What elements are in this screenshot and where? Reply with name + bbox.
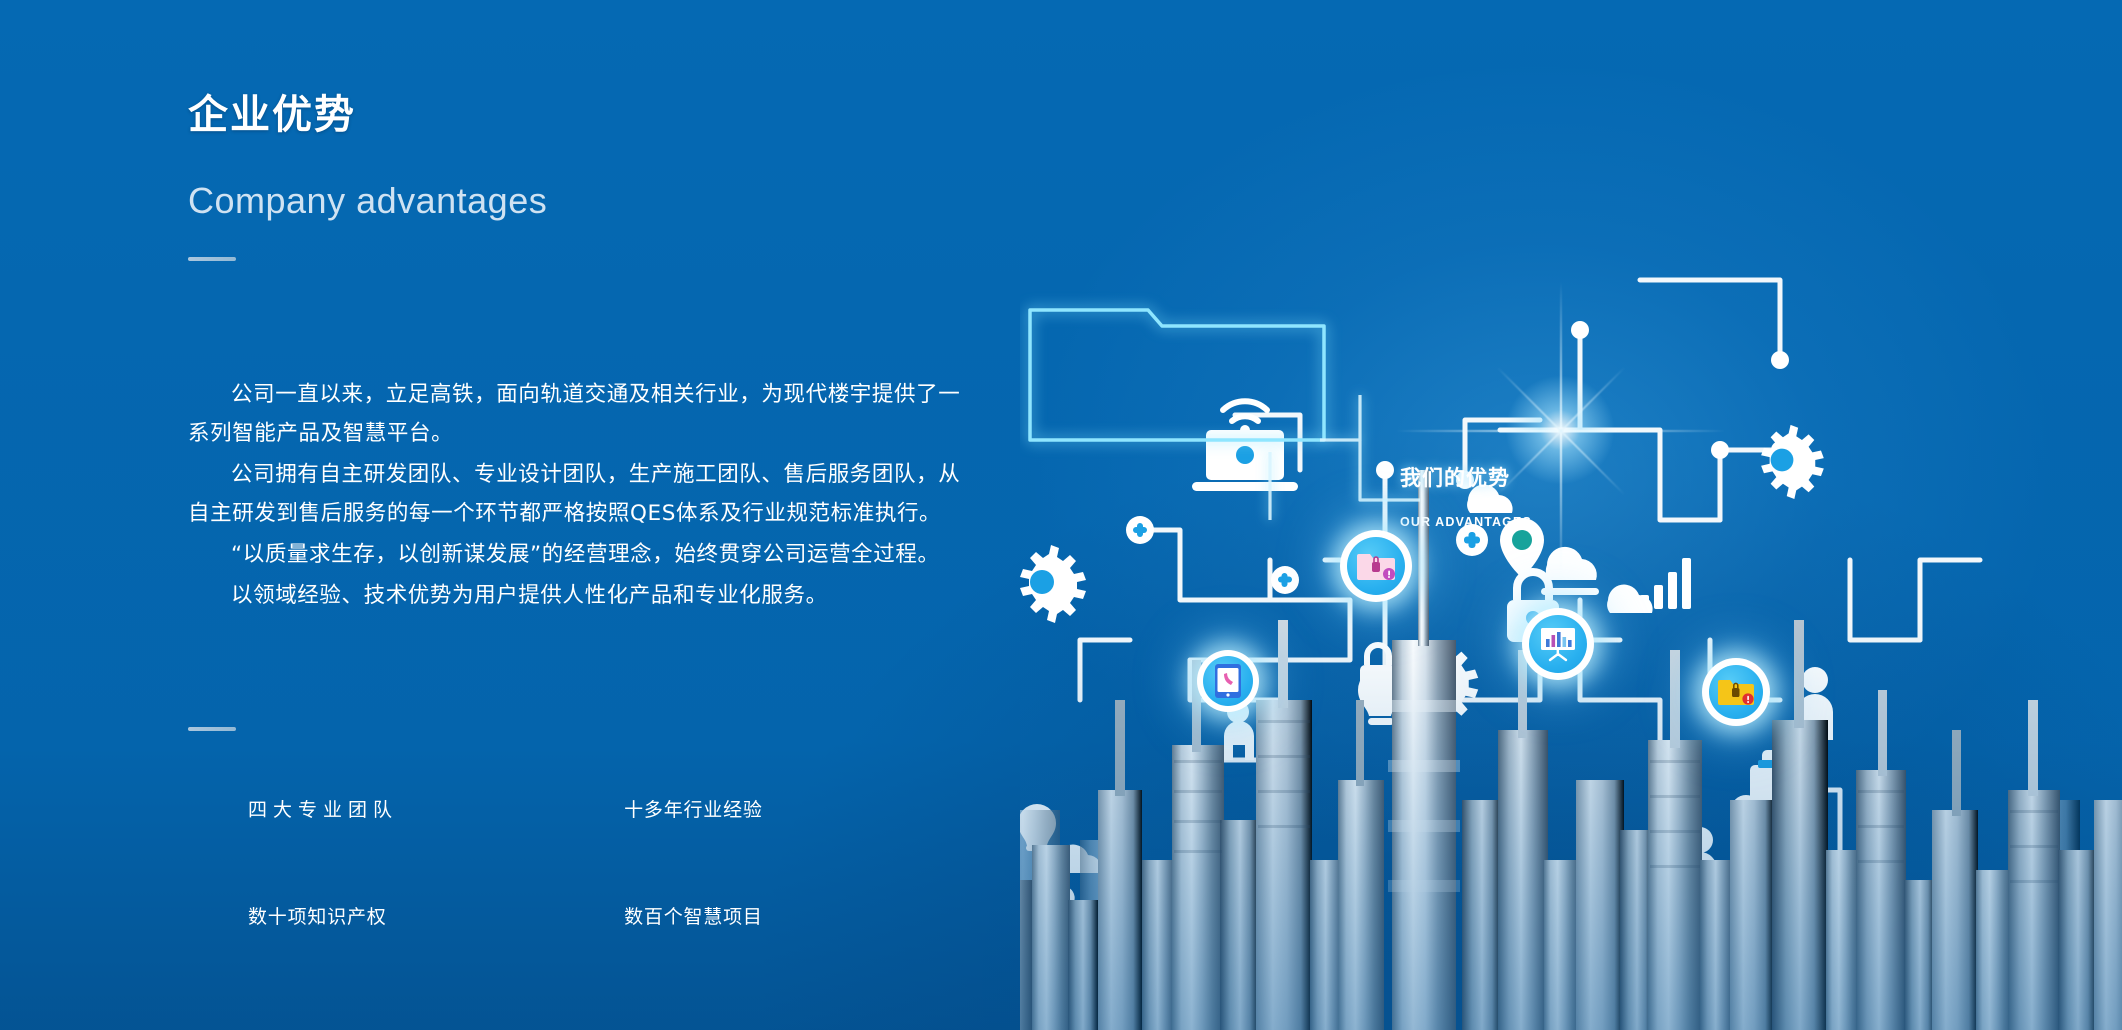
slide-canvas: 我们的优势 OUR ADVANTAGES	[0, 0, 2122, 1030]
stats-row: 数十项知识产权 数百个智慧项目	[188, 902, 828, 929]
light-burst-icon	[1560, 430, 1562, 432]
stat-item: 数十项知识产权	[188, 902, 624, 929]
title-divider	[188, 257, 236, 261]
node-chart-presentation[interactable]	[1522, 608, 1594, 680]
chart-presentation-icon	[1538, 626, 1578, 662]
stats-row: 四大专业团队 十多年行业经验	[188, 795, 828, 822]
advantage-card-title-en: OUR ADVANTAGES	[1400, 515, 1532, 529]
page-title-cn: 企业优势	[188, 82, 356, 140]
stats-grid: 四大专业团队 十多年行业经验 数十项知识产权 数百个智慧项目	[188, 795, 828, 1009]
advantage-card-outline	[1020, 0, 2122, 1030]
folder-lock-pink-icon	[1356, 550, 1396, 582]
folder-lock-yellow-icon	[1717, 677, 1755, 707]
smartphone-call-icon	[1215, 664, 1241, 698]
stats-divider	[188, 727, 236, 731]
page-title-en: Company advantages	[188, 180, 547, 222]
advantage-card-title-cn: 我们的优势	[1400, 462, 1510, 492]
stat-item: 四大专业团队	[188, 795, 624, 822]
text-column: 企业优势 Company advantages 公司一直以来，立足高铁，面向轨道…	[0, 0, 1060, 1030]
body-copy: 公司一直以来，立足高铁，面向轨道交通及相关行业，为现代楼宇提供了一系列智能产品及…	[188, 375, 978, 617]
stat-item: 数百个智慧项目	[624, 902, 828, 929]
paragraph: 公司拥有自主研发团队、专业设计团队，生产施工团队、售后服务团队，从自主研发到售后…	[188, 455, 978, 533]
illustration-panel	[1020, 0, 2122, 1030]
stat-item: 十多年行业经验	[624, 795, 828, 822]
paragraph: “以质量求生存，以创新谋发展”的经营理念，始终贯穿公司运营全过程。	[188, 535, 978, 574]
node-folder-lock-pink[interactable]	[1340, 530, 1412, 602]
node-folder-lock-yellow[interactable]	[1702, 658, 1770, 726]
node-smartphone-call[interactable]	[1197, 650, 1259, 712]
paragraph: 公司一直以来，立足高铁，面向轨道交通及相关行业，为现代楼宇提供了一系列智能产品及…	[188, 375, 978, 453]
paragraph: 以领域经验、技术优势为用户提供人性化产品和专业化服务。	[188, 576, 978, 615]
